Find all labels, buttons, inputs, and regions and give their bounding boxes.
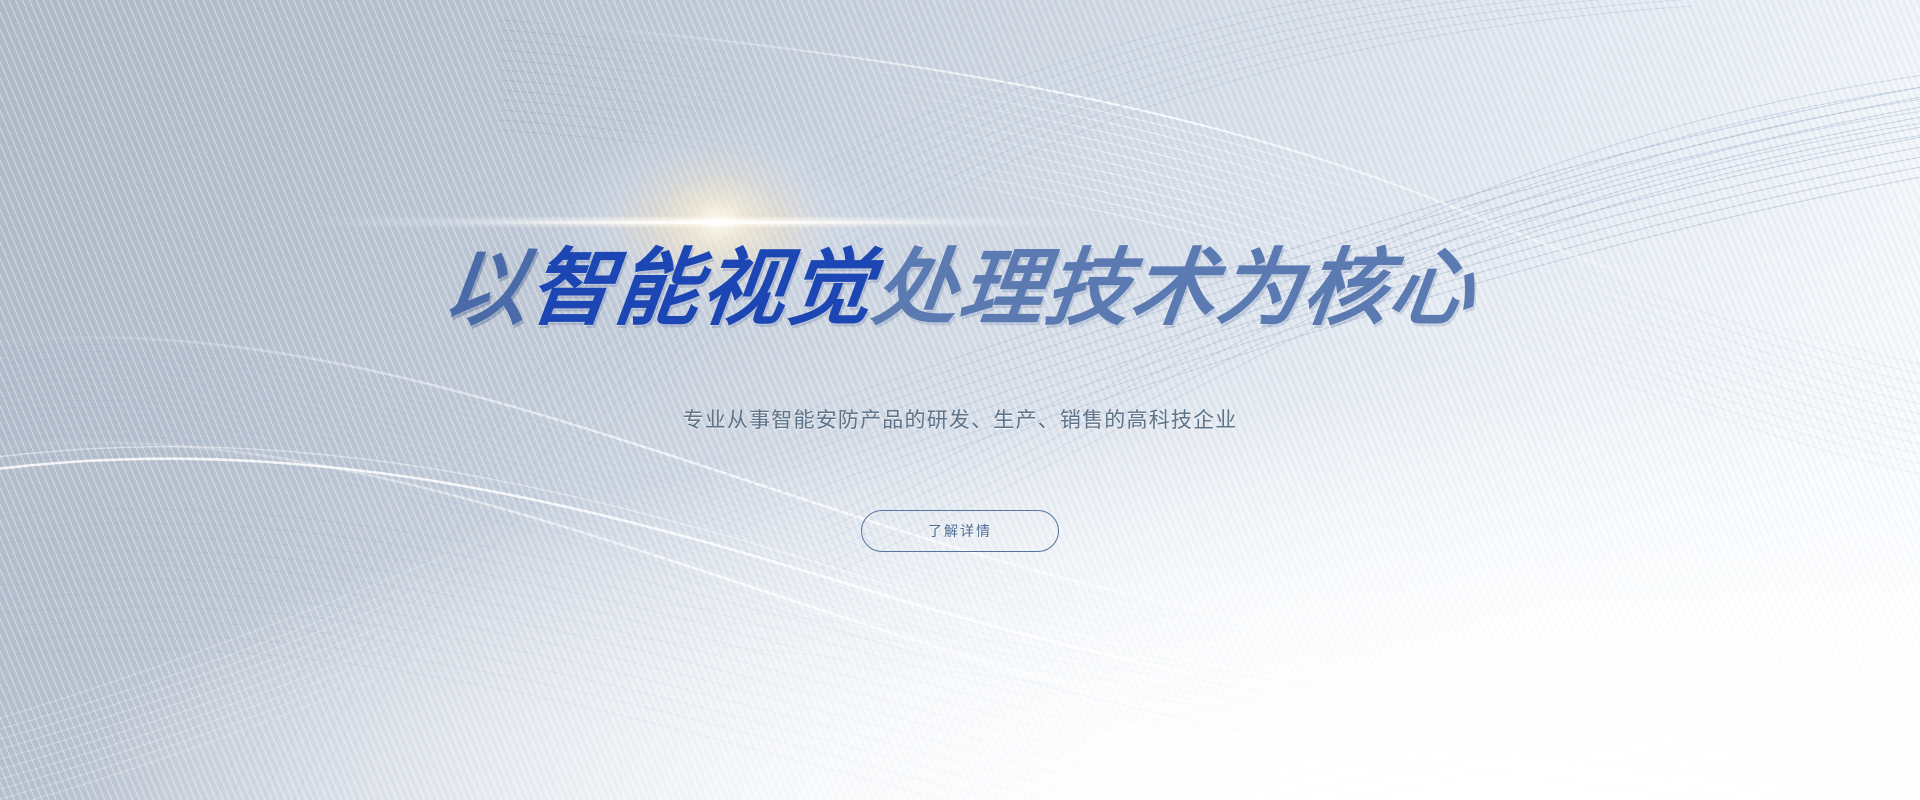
cta-container: 了解详情 — [0, 510, 1920, 552]
hero-banner: 以智能视觉处理技术为核心 专业从事智能安防产品的研发、生产、销售的高科技企业 了… — [0, 0, 1920, 800]
learn-more-button[interactable]: 了解详情 — [861, 510, 1059, 552]
wave-line-decoration — [0, 0, 1920, 800]
